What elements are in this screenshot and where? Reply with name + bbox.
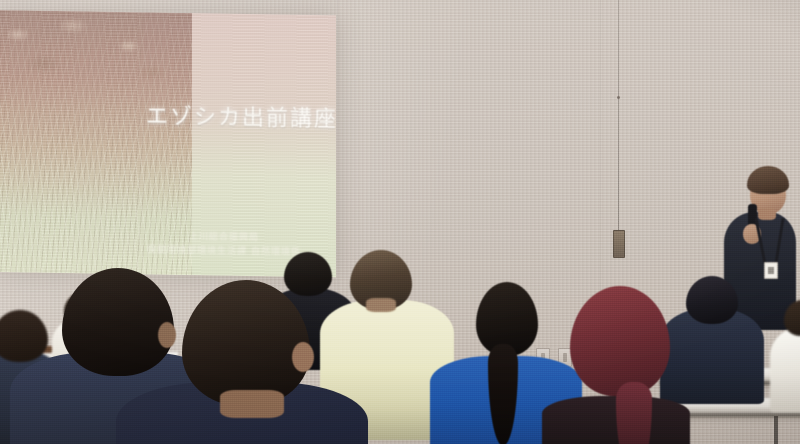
attendee-head — [284, 252, 332, 296]
projection-screen: エゾシカ出前講座 上川総合振興局 保健環境部環境生活課 自然環境係 — [0, 10, 336, 277]
cord-knot — [617, 96, 620, 99]
attendee-head — [686, 276, 738, 324]
attendee-ear — [292, 342, 314, 372]
hanging-cord[interactable] — [618, 0, 619, 238]
presenter-neck — [758, 208, 776, 220]
cord-weight-box — [613, 230, 625, 258]
attendee-neck — [366, 298, 396, 312]
presenter-id-badge — [764, 262, 778, 279]
attendee-neck — [220, 390, 284, 418]
attendee-ponytail — [616, 382, 652, 444]
classroom-photo: エゾシカ出前講座 上川総合振興局 保健環境部環境生活課 自然環境係 — [0, 0, 800, 444]
attendee-body — [770, 328, 800, 412]
table-leg — [774, 416, 778, 444]
screen-scanline-overlay — [0, 10, 336, 277]
attendee-ear — [158, 322, 176, 348]
